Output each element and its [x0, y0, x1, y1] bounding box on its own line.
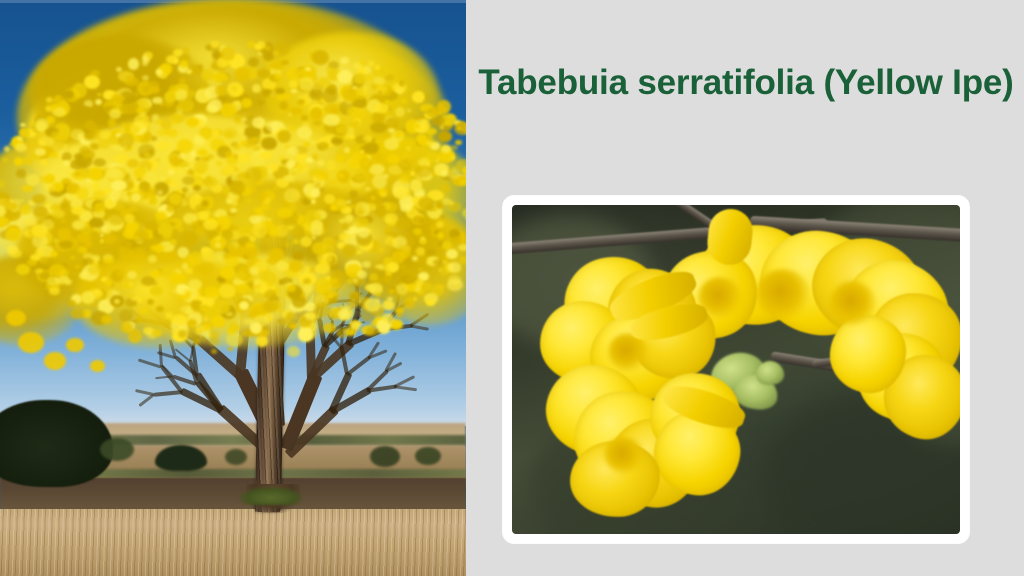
blossom-cluster	[155, 211, 167, 219]
blossom-cluster	[211, 349, 218, 354]
blossom-cluster	[97, 228, 101, 232]
flower-throat	[604, 437, 644, 473]
blossom-cluster	[342, 244, 357, 257]
blossom-cluster	[279, 101, 289, 110]
blossom-cluster	[93, 158, 106, 167]
blossom-cluster	[279, 281, 284, 285]
blossom-cluster	[269, 227, 279, 237]
blossom-cluster	[314, 302, 330, 316]
blossom-cluster	[349, 190, 358, 199]
blossom-cluster	[199, 305, 209, 312]
blossom-cluster	[131, 193, 141, 202]
blossom-cluster	[277, 130, 291, 143]
blossom-cluster	[315, 263, 330, 274]
blossom-cluster	[350, 205, 354, 208]
blossom-cluster	[146, 52, 153, 59]
blossom-cluster	[401, 99, 407, 103]
blossom-cluster	[103, 257, 113, 265]
blossom-cluster	[440, 183, 451, 193]
blossom-cluster	[396, 284, 408, 296]
blossom-cluster	[353, 63, 362, 69]
blossom-cluster	[313, 120, 322, 126]
blossom-cluster	[252, 84, 260, 92]
blossom-cluster	[230, 180, 245, 195]
flower-throat	[830, 281, 876, 325]
blossom-cluster	[400, 264, 407, 270]
blossom-cluster	[191, 302, 200, 311]
blossom-cluster	[289, 126, 295, 131]
blossom-cluster	[70, 309, 85, 319]
blossom-cluster	[240, 141, 246, 145]
blossom-cluster	[298, 327, 313, 341]
blossom-cluster	[150, 187, 156, 192]
blossom-cluster	[70, 256, 74, 259]
blossom-cluster	[88, 263, 101, 275]
blossom-cluster	[186, 117, 199, 127]
blossom-cluster	[346, 200, 351, 203]
blossom-cluster	[170, 239, 177, 246]
blossom-cluster	[201, 200, 209, 207]
blossom-cluster	[340, 57, 349, 64]
blossom-cluster	[0, 180, 5, 188]
blossom-cluster	[248, 57, 259, 67]
blossom-cluster	[194, 160, 208, 173]
blossom-cluster	[394, 187, 410, 199]
blossom-cluster	[291, 171, 296, 176]
background-tree	[100, 438, 134, 461]
blossom-cluster	[391, 232, 398, 238]
blossom-cluster	[141, 184, 151, 192]
blossom-cluster	[395, 131, 404, 138]
blossom-cluster	[177, 139, 192, 154]
blossom-cluster	[205, 45, 212, 50]
blossom-cluster	[366, 327, 379, 336]
blossom-cluster	[288, 113, 292, 116]
blossom-cluster	[77, 246, 87, 253]
blossom-cluster	[216, 161, 222, 166]
blossom-cluster	[158, 54, 163, 58]
blossom-cluster	[262, 92, 268, 97]
blossom-cluster	[39, 257, 51, 264]
blossom-cluster	[183, 47, 190, 53]
blossom-cluster	[447, 169, 460, 178]
blossom-cluster	[99, 130, 111, 138]
blossom-cluster	[323, 114, 339, 126]
blossom-cluster	[342, 224, 349, 231]
blossom-cluster	[40, 159, 48, 166]
blossom-cluster	[384, 213, 398, 224]
blossom-cluster	[379, 247, 385, 252]
blossom-cluster	[104, 234, 117, 245]
blossom-cluster	[287, 147, 299, 155]
blossom-cluster	[187, 319, 197, 327]
blossom-cluster	[20, 204, 32, 215]
blossom-cluster	[291, 89, 297, 94]
blossom-cluster	[49, 287, 60, 296]
blossom-cluster	[58, 228, 71, 240]
blossom-cluster	[16, 264, 30, 275]
blossom-cluster	[338, 173, 344, 178]
blossom-cluster	[381, 193, 388, 197]
blossom-cluster	[88, 90, 94, 95]
blossom-cluster	[208, 99, 222, 112]
blossom-cluster	[455, 140, 462, 145]
blossom-cluster	[116, 268, 126, 278]
blossom-cluster	[317, 142, 329, 150]
blossom-cluster	[47, 277, 60, 286]
blossom-cluster	[352, 120, 360, 127]
blossom-cluster	[418, 268, 423, 271]
blossom-cluster	[156, 159, 160, 162]
blossom-cluster	[81, 291, 95, 304]
blossom-cluster	[204, 286, 220, 298]
blossom-cluster	[235, 119, 241, 125]
blossom-cluster	[329, 264, 337, 271]
blossom-cluster	[268, 169, 273, 173]
blossom-cluster	[272, 92, 276, 95]
blossom-cluster	[317, 160, 325, 166]
blossom-cluster	[260, 151, 272, 159]
blossom-cluster	[164, 92, 176, 103]
blossom-cluster	[178, 289, 185, 295]
blossom-cluster	[261, 137, 278, 150]
blossom-cluster	[312, 242, 326, 255]
blossom-cluster	[148, 86, 160, 94]
blossom-cluster	[135, 317, 143, 322]
blossom-cluster	[204, 317, 208, 320]
blossom-cluster	[422, 282, 432, 291]
blossom-cluster	[75, 265, 79, 268]
blossom-cluster	[212, 129, 220, 137]
blossom-cluster	[63, 160, 70, 166]
blossom-cluster	[237, 153, 251, 164]
blossom-cluster	[147, 299, 154, 305]
flower-photo	[512, 205, 960, 534]
blossom-cluster	[51, 131, 62, 140]
blossom-cluster	[129, 282, 134, 286]
blossom-cluster	[415, 165, 432, 178]
blossom-cluster	[4, 146, 10, 151]
blossom-cluster	[310, 140, 316, 145]
blossom-cluster	[264, 300, 279, 312]
blossom-canopy-detail	[0, 0, 466, 415]
blossom-cluster	[274, 51, 279, 54]
grass-at-trunk	[240, 487, 302, 505]
blossom-cluster	[9, 249, 22, 258]
blossom-cluster	[284, 188, 300, 203]
blossom-cluster	[201, 248, 216, 261]
blossom-cluster	[106, 168, 121, 178]
blossom-cluster	[457, 127, 461, 130]
blossom-cluster	[399, 160, 411, 172]
blossom-cluster	[111, 180, 127, 191]
blossom-cluster	[222, 165, 235, 174]
page-title: Tabebuia serratifolia (Yellow Ipe)	[468, 62, 1024, 103]
blossom-cluster	[303, 284, 313, 293]
blossom-cluster	[179, 78, 186, 84]
blossom-cluster	[62, 90, 74, 99]
blossom-cluster	[357, 270, 367, 279]
blossom-cluster	[256, 335, 268, 347]
blossom-cluster	[23, 231, 28, 235]
blossom-cluster	[284, 242, 291, 247]
blossom-cluster	[360, 150, 364, 154]
blossom-cluster	[462, 208, 466, 218]
blossom-cluster	[335, 155, 344, 162]
blossom-spray	[66, 338, 84, 352]
blossom-cluster	[193, 338, 200, 345]
blossom-cluster	[310, 180, 314, 184]
background-bush	[155, 445, 207, 470]
blossom-cluster	[330, 204, 338, 211]
blossom-cluster	[128, 58, 140, 70]
blossom-cluster	[292, 226, 305, 238]
blossom-cluster	[114, 299, 120, 304]
blossom-cluster	[169, 193, 182, 206]
blossom-cluster	[288, 260, 302, 271]
blossom-cluster	[311, 235, 317, 240]
blossom-cluster	[401, 275, 408, 280]
blossom-cluster	[6, 231, 20, 242]
blossom-cluster	[310, 189, 321, 198]
blossom-cluster	[370, 122, 387, 133]
blossom-cluster	[14, 157, 23, 166]
blossom-cluster	[399, 83, 405, 87]
blossom-cluster	[273, 186, 278, 190]
blossom-cluster	[382, 276, 392, 283]
blossom-cluster	[328, 240, 335, 246]
blossom-cluster	[47, 184, 55, 192]
blossom-cluster	[266, 121, 280, 133]
blossom-cluster	[312, 50, 329, 65]
blossom-cluster	[448, 262, 461, 272]
blossom-cluster	[137, 107, 144, 113]
blossom-cluster	[332, 188, 337, 193]
blossom-cluster	[253, 279, 261, 285]
blossom-cluster	[381, 301, 395, 310]
blossom-cluster	[213, 300, 230, 314]
blossom-cluster	[219, 284, 236, 298]
blossom-cluster	[355, 91, 366, 99]
blossom-cluster	[134, 236, 139, 240]
blossom-cluster	[182, 187, 188, 193]
blossom-cluster	[359, 250, 364, 253]
blossom-cluster	[297, 126, 312, 138]
blossom-cluster	[349, 138, 355, 143]
blossom-cluster	[426, 249, 435, 257]
blossom-cluster	[167, 129, 177, 137]
blossom-cluster	[156, 141, 170, 150]
blossom-cluster	[149, 197, 158, 205]
blossom-cluster	[322, 88, 338, 103]
blossom-cluster	[19, 128, 30, 138]
blossom-cluster	[432, 208, 437, 211]
blossom-cluster	[124, 214, 135, 223]
blossom-cluster	[142, 75, 149, 81]
blossom-cluster	[375, 292, 381, 297]
blossom-cluster	[339, 219, 345, 223]
blossom-cluster	[378, 91, 382, 94]
blossom-cluster	[246, 199, 252, 203]
blossom-cluster	[20, 123, 26, 127]
blossom-cluster	[215, 86, 227, 96]
blossom-cluster	[0, 199, 11, 206]
blossom-cluster	[207, 154, 214, 160]
blossom-cluster	[399, 174, 410, 184]
blossom-cluster	[129, 206, 138, 212]
blossom-cluster	[326, 293, 335, 299]
blossom-cluster	[156, 306, 164, 312]
blossom-cluster	[258, 100, 265, 105]
blossom-cluster	[68, 300, 75, 306]
blossom-cluster	[230, 208, 237, 213]
blossom-cluster	[0, 217, 9, 227]
tree-photo	[0, 0, 466, 576]
blossom-cluster	[144, 153, 150, 157]
blossom-cluster	[201, 128, 212, 138]
blossom-cluster	[459, 256, 466, 264]
blossom-cluster	[374, 103, 389, 113]
blossom-cluster	[281, 60, 289, 66]
blossom-cluster	[138, 144, 155, 159]
blossom-cluster	[317, 77, 331, 87]
blossom-cluster	[348, 299, 358, 308]
blossom-cluster	[363, 135, 373, 142]
blossom-spray	[18, 332, 44, 353]
blossom-cluster	[348, 134, 355, 139]
blossom-cluster	[140, 307, 148, 314]
blossom-cluster	[275, 88, 284, 95]
blossom-cluster	[59, 240, 73, 249]
blossom-cluster	[108, 118, 117, 127]
blossom-cluster	[413, 297, 417, 301]
blossom-cluster	[209, 338, 220, 346]
blossom-cluster	[198, 64, 203, 68]
blossom-cluster	[15, 143, 27, 152]
blossom-cluster	[412, 256, 418, 260]
blossom-cluster	[193, 185, 201, 191]
blossom-cluster	[42, 219, 54, 230]
blossom-cluster	[220, 266, 235, 279]
blossom-cluster	[276, 261, 289, 271]
blossom-cluster	[309, 89, 323, 100]
blossom-cluster	[354, 175, 362, 181]
blossom-cluster	[433, 259, 443, 266]
blossom-cluster	[323, 323, 335, 333]
blossom-cluster	[123, 195, 130, 202]
blossom-cluster	[239, 301, 249, 311]
blossom-cluster	[211, 316, 225, 327]
blossom-cluster	[447, 279, 463, 291]
blossom-cluster	[407, 297, 413, 303]
blossom-cluster	[157, 129, 166, 136]
blossom-cluster	[440, 125, 444, 129]
blossom-cluster	[274, 73, 281, 80]
blossom-cluster	[282, 227, 287, 230]
blossom-cluster	[412, 215, 427, 226]
blossom-cluster	[119, 309, 133, 322]
blossom-cluster	[387, 154, 400, 164]
blossom-cluster	[293, 239, 299, 245]
blossom-cluster	[372, 174, 388, 189]
blossom-cluster	[154, 244, 164, 253]
blossom-cluster	[49, 264, 66, 276]
blossom-cluster	[50, 251, 58, 257]
blossom-cluster	[152, 329, 162, 336]
blossom-cluster	[357, 227, 370, 238]
blossom-cluster	[406, 146, 411, 150]
blossom-cluster	[90, 143, 100, 149]
blossom-cluster	[101, 315, 111, 324]
blossom-cluster	[235, 67, 251, 81]
blossom-cluster	[297, 99, 304, 105]
blossom-cluster	[311, 220, 322, 230]
blossom-cluster	[111, 94, 125, 103]
blossom-cluster	[170, 284, 177, 290]
slide-canvas: Tabebuia serratifolia (Yellow Ipe)	[0, 0, 1024, 576]
blossom-cluster	[446, 249, 457, 260]
blossom-cluster	[407, 109, 412, 112]
blossom-cluster	[315, 278, 332, 293]
blossom-cluster	[362, 261, 371, 268]
blossom-cluster	[326, 160, 336, 169]
blossom-cluster	[397, 313, 402, 318]
blossom-cluster	[354, 73, 367, 84]
background-tree	[370, 446, 400, 467]
blossom-cluster	[252, 117, 264, 128]
blossom-cluster	[146, 172, 157, 183]
blossom-cluster	[63, 145, 68, 148]
blossom-cluster	[279, 156, 284, 159]
blossom-cluster	[127, 271, 137, 279]
blossom-cluster	[84, 132, 94, 142]
blossom-cluster	[186, 69, 192, 74]
blossom-cluster	[385, 228, 391, 232]
blossom-cluster	[300, 161, 305, 165]
blossom-cluster	[172, 120, 178, 125]
blossom-cluster	[50, 103, 57, 110]
blossom-cluster	[385, 202, 398, 212]
blossom-cluster	[458, 244, 466, 252]
blossom-cluster	[157, 190, 163, 195]
blossom-cluster	[437, 232, 444, 239]
blossom-cluster	[451, 236, 461, 243]
blossom-cluster	[97, 93, 102, 96]
blossom-cluster	[241, 98, 252, 108]
blossom-cluster	[286, 94, 291, 99]
blossom-cluster	[249, 215, 261, 222]
blossom-cluster	[226, 242, 238, 250]
blossom-cluster	[398, 245, 411, 253]
blossom-cluster	[328, 179, 336, 185]
blossom-cluster	[436, 221, 444, 228]
blossom-cluster	[338, 309, 349, 319]
blossom-cluster	[337, 70, 351, 83]
blossom-cluster	[236, 284, 250, 293]
blossom-cluster	[81, 226, 94, 235]
blossom-cluster	[168, 169, 175, 175]
blossom-cluster	[412, 91, 425, 103]
blossom-cluster	[440, 215, 445, 218]
blossom-cluster	[373, 77, 385, 85]
blossom-cluster	[312, 153, 319, 160]
blossom-spray	[90, 360, 105, 372]
blossom-cluster	[159, 176, 165, 181]
blossom-cluster	[286, 284, 296, 292]
blossom-cluster	[459, 179, 466, 186]
blossom-cluster	[301, 115, 307, 121]
blossom-cluster	[413, 228, 422, 234]
